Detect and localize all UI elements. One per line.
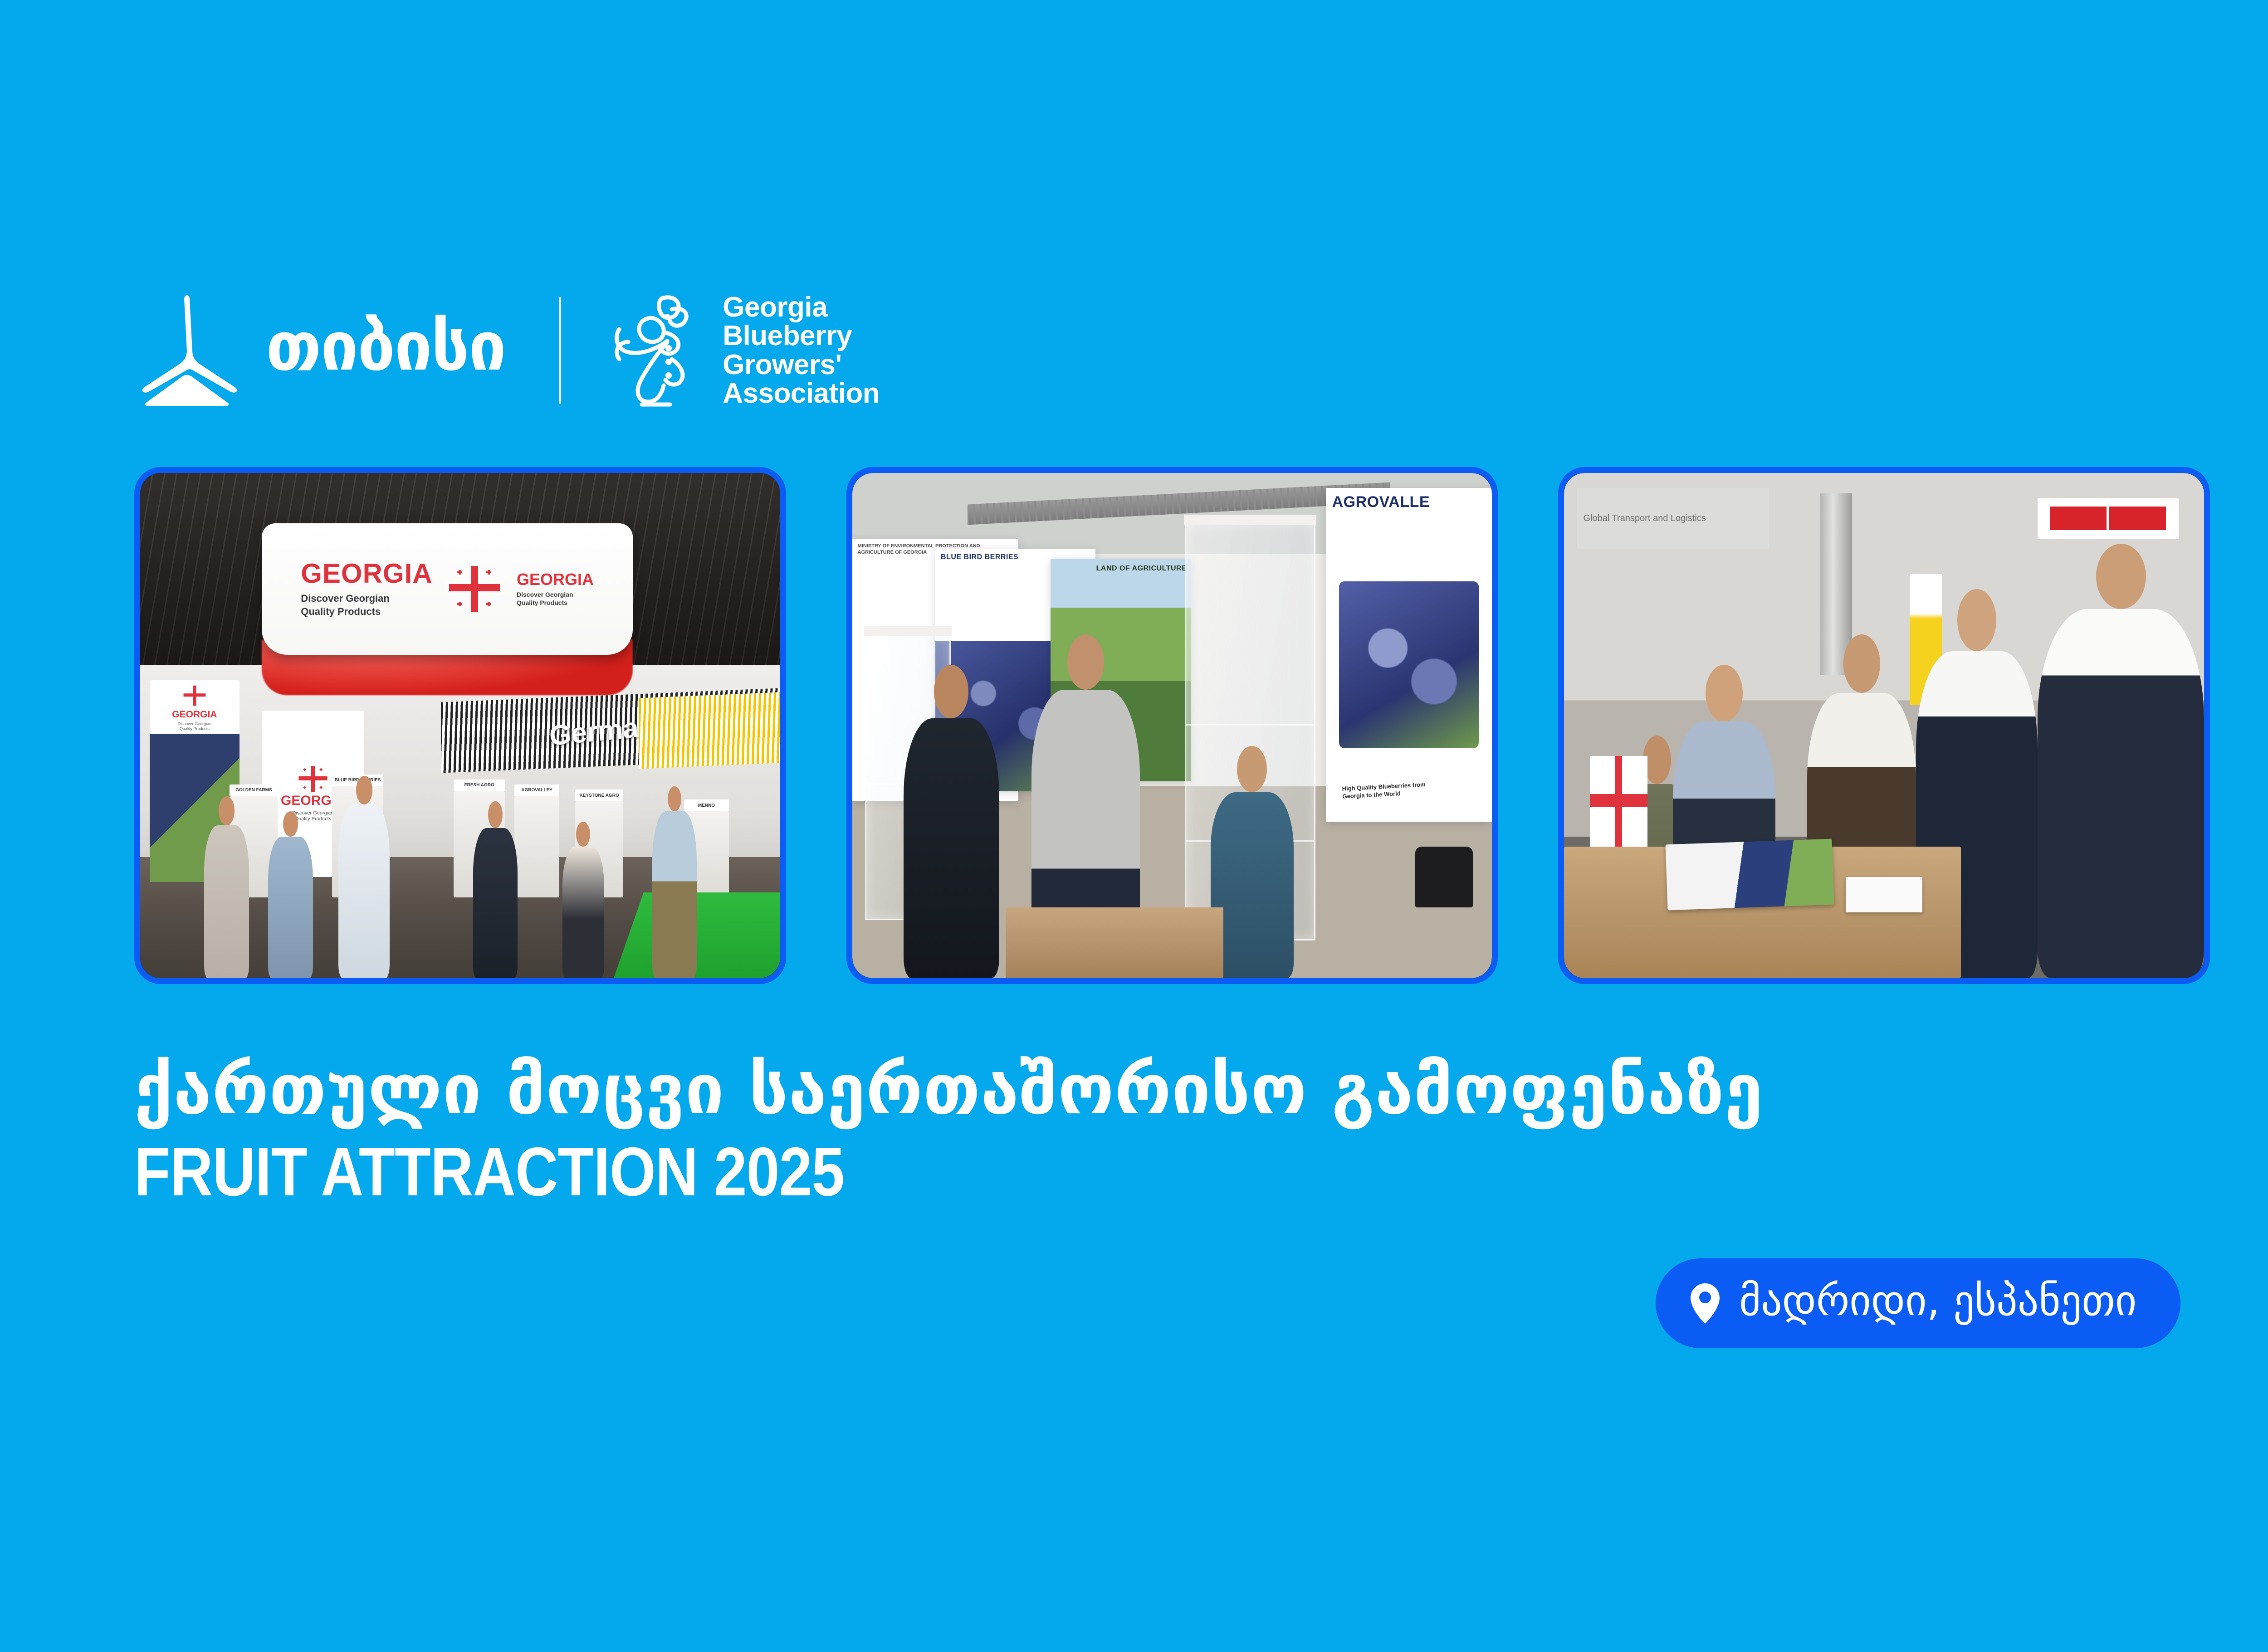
banner-title: GEORGIA [301,560,432,587]
logo-divider [559,297,561,404]
photo-3-content: Global Transport and Logistics [1564,473,2204,978]
visitor-back-dark [904,665,1000,978]
photo-2-content: MINISTRY OF ENVIRONMENTAL PROTECTION AND… [852,473,1492,978]
panel-tagline: High Quality Blueberries from Georgia to… [1342,780,1443,801]
headline-line-2: FRUIT ATTRACTION 2025 [134,1135,1851,1209]
kiosk-label: KEYSTONE AGRO [575,789,623,801]
gbga-line-1: Georgia [723,293,880,322]
bar-stool [1415,847,1473,907]
visitor [473,801,518,978]
logistics-sign-label: Global Transport and Logistics [1584,513,1706,524]
blueberry-cluster-image [1339,581,1479,748]
photo-strip: GEORGIA Discover GeorgianQuality Product… [134,467,2210,984]
germany-stripe-yellow [639,692,780,769]
gbga-line-2: Blueberry [723,322,880,350]
georgia-flag-icon [182,685,207,707]
eiffel-booth-sign [2038,498,2178,539]
brochure-stack [1666,839,1834,911]
banner-subtitle: Discover GeorgianQuality Products [301,592,390,619]
gbga-logo-lockup: Georgia Blueberry Growers' Association [615,291,880,410]
blueberry-butterfly-logo [615,291,705,410]
headline-line-1: ქართული მოცვი საერთაშორისო გამოფენაზე [134,1051,2130,1128]
georgia-hanging-banner: GEORGIA Discover GeorgianQuality Product… [262,523,633,655]
banner-subtitle-right: Discover GeorgianQuality Products [517,590,573,607]
kiosk-label: GOLDEN FARMS [230,785,278,796]
business-card-stack [1846,877,1922,912]
logo-row: თიბისი Georgia Blueberry Growers' [134,288,880,413]
delegate-5 [2038,544,2204,978]
left-panel-subtitle: Discover GeorgianQuality Products [178,721,212,731]
tbc-logo-lockup: თიბისი [134,294,505,407]
gbga-line-4: Association [723,379,880,408]
promo-banner: { "brand": { "background_color": "#03A9E… [0,0,2268,1652]
location-label: მადრიდი, ესპანეთი [1739,1280,2137,1326]
gbga-wordmark: Georgia Blueberry Growers' Association [723,293,880,408]
kiosk-label: AGROVALLEY [514,785,559,796]
visitor [204,796,249,978]
tbc-wordmark: თიბისი [266,313,505,388]
gbga-line-3: Growers' [723,351,880,379]
counter-wood [1006,907,1223,978]
kiosk-label: FRESH AGRO [454,780,505,791]
photo-delegation-at-counter: Global Transport and Logistics [1558,467,2210,984]
photo-georgia-pavilion: GEORGIA Discover GeorgianQuality Product… [134,467,786,984]
location-badge: მადრიდი, ესპანეთი [1656,1258,2180,1348]
kiosk-agrovalley: AGROVALLEY [514,796,559,897]
visitor [268,811,313,978]
left-panel-title: GEORGIA [172,709,217,720]
georgia-table-flag [1590,756,1647,847]
visitor [338,776,390,978]
visitor [652,786,697,978]
banner-title-right: GEORGIA [517,571,594,588]
agrovalle-panel: AGROVALLE High Quality Blueberries from … [1326,488,1492,821]
photo-blueberry-showcases: MINISTRY OF ENVIRONMENTAL PROTECTION AND… [846,467,1498,984]
logistics-sign: Global Transport and Logistics [1577,488,1769,549]
georgia-flag-icon [447,564,502,614]
panel-label: LAND OF AGRICULTURE [1096,564,1187,573]
tbc-triangle-logo [134,294,238,407]
panel-label: AGROVALLE [1326,488,1492,511]
visitor [562,822,604,978]
headline-block: ქართული მოცვი საერთაშორისო გამოფენაზე FR… [134,1051,2130,1209]
georgia-flag-icon [297,765,329,793]
photo-1-content: GEORGIA Discover GeorgianQuality Product… [140,473,780,978]
map-pin-icon [1689,1282,1721,1324]
